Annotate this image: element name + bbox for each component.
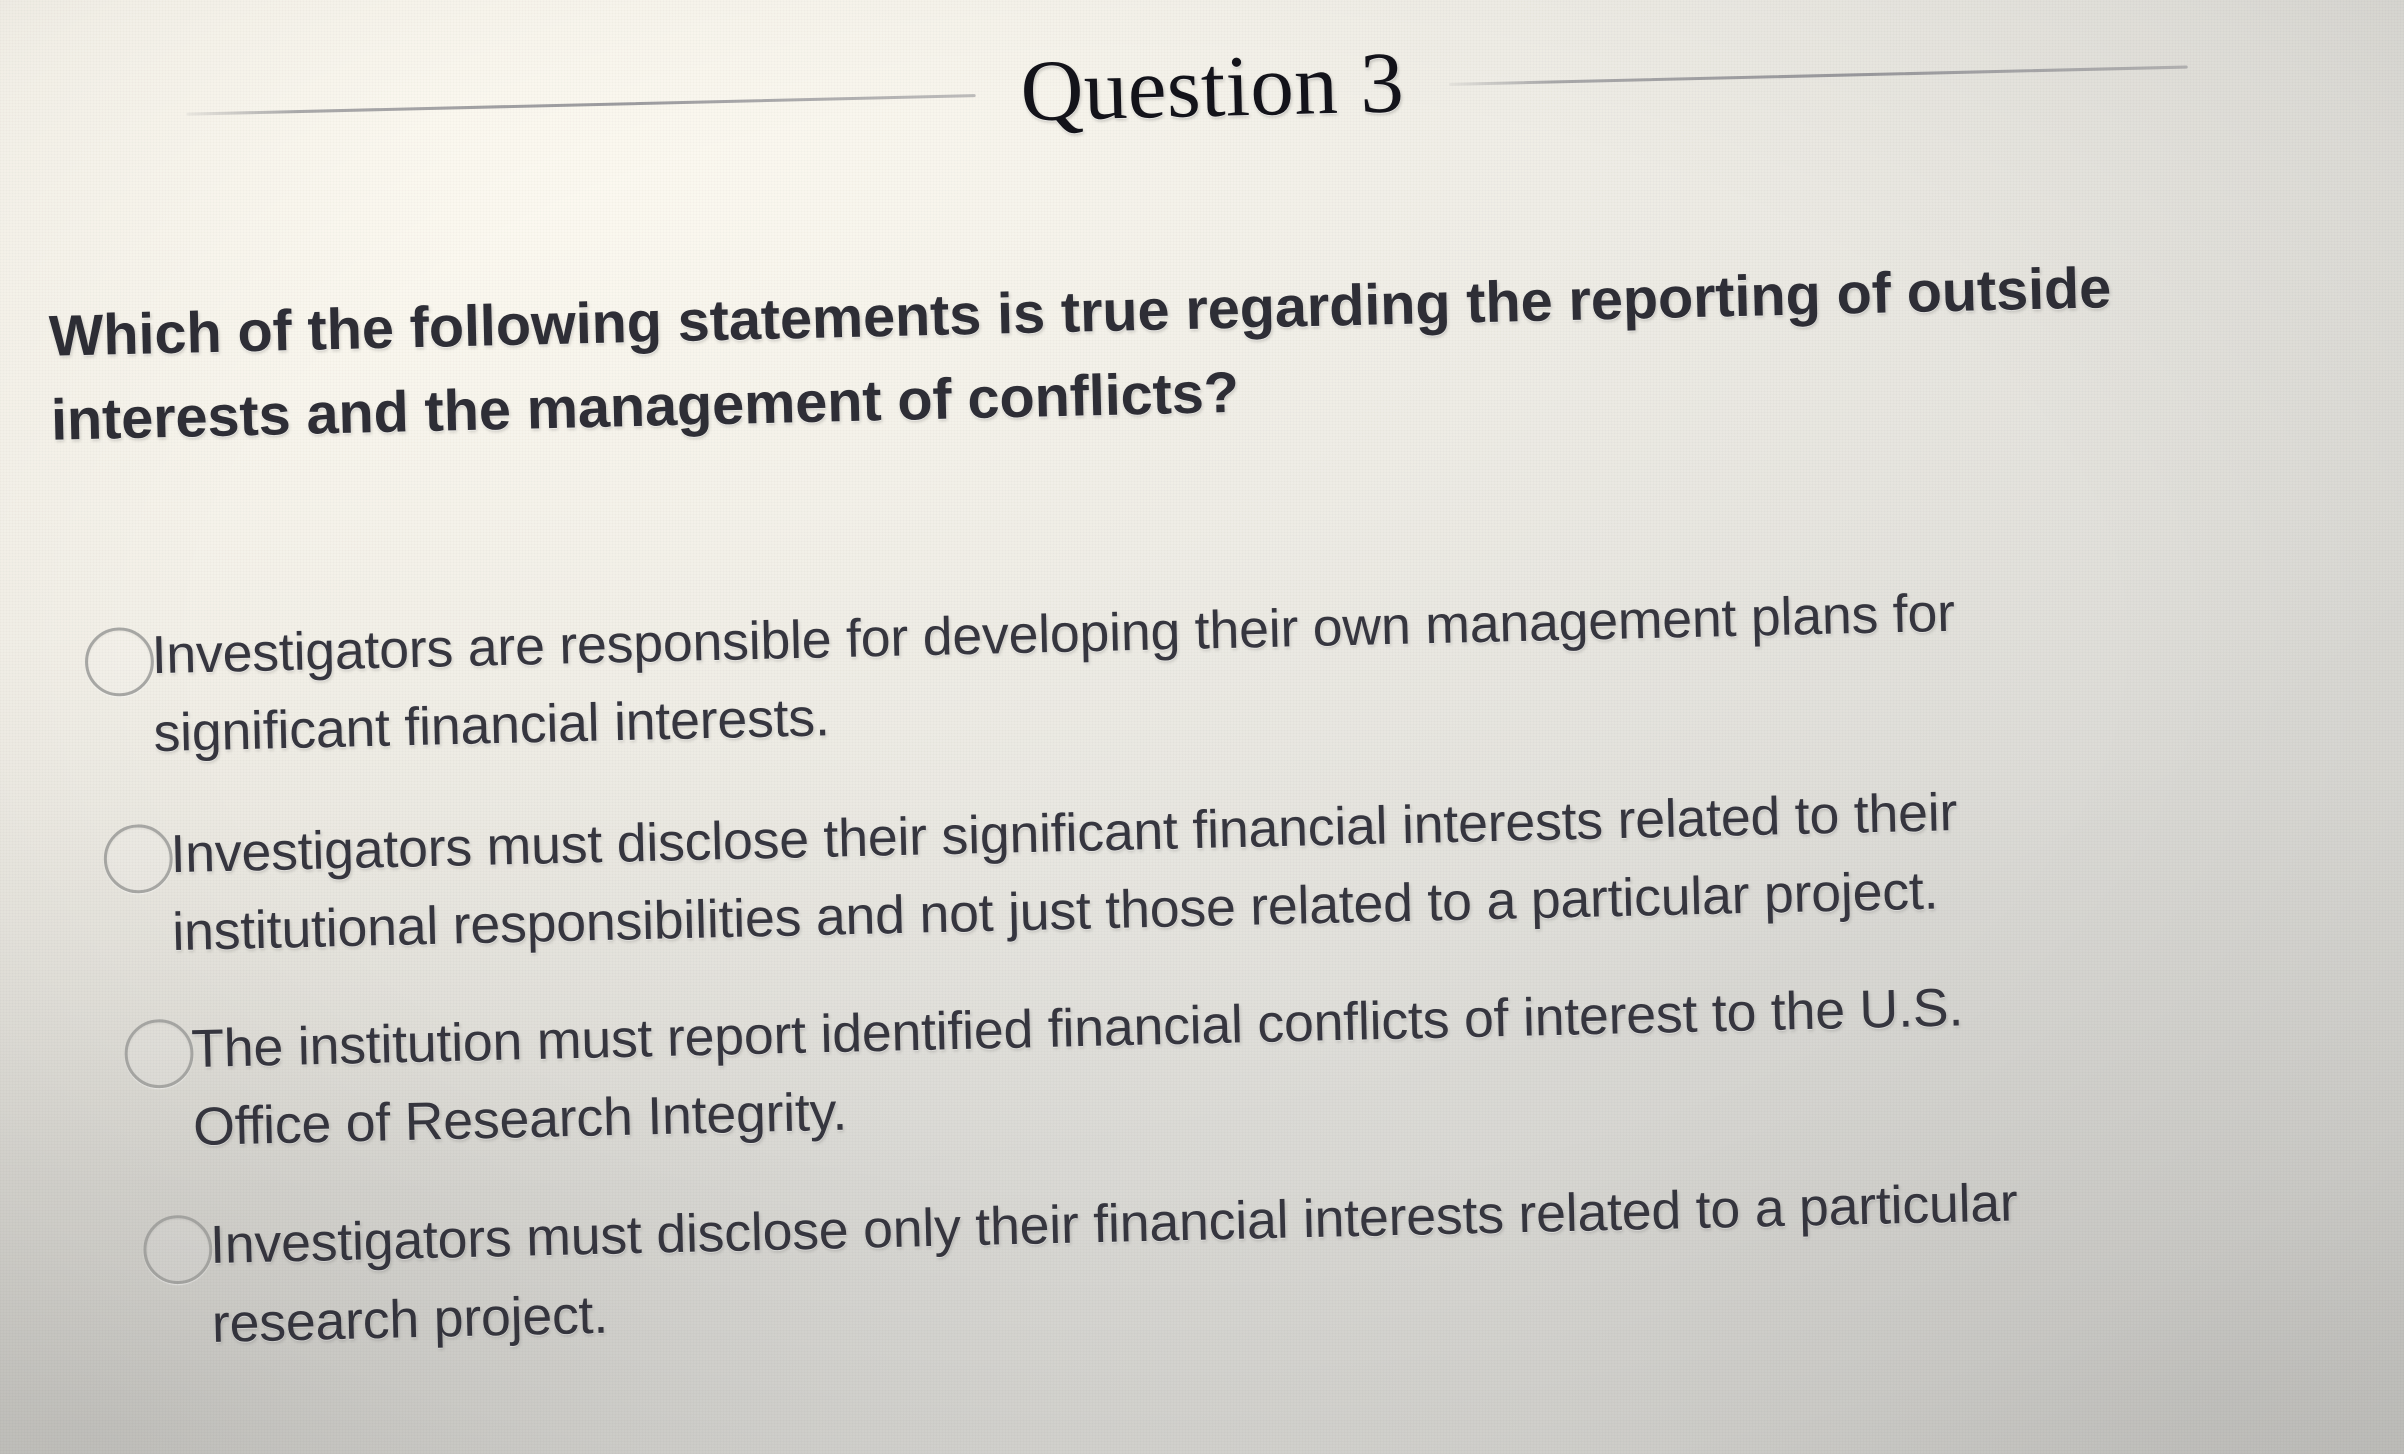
radio-button-icon-3[interactable] <box>124 1018 194 1088</box>
answer-option-label-3: The institution must report identified f… <box>190 965 2096 1166</box>
answer-options-list: Investigators are responsible for develo… <box>0 563 2404 1368</box>
header-divider-right-icon <box>1449 65 2188 85</box>
answer-option-3[interactable]: The institution must report identified f… <box>0 957 2404 1171</box>
answer-option-label-4: Investigators must disclose only their f… <box>209 1162 2125 1364</box>
question-header: Question 3 <box>0 1 2404 180</box>
radio-button-icon-4[interactable] <box>143 1215 213 1285</box>
question-prompt: Which of the following statements is tru… <box>48 246 2146 464</box>
quiz-page: Question 3 Which of the following statem… <box>0 0 2404 1454</box>
radio-button-icon-2[interactable] <box>103 823 173 893</box>
screen-photo: Question 3 Which of the following statem… <box>0 0 2404 1454</box>
radio-button-icon-1[interactable] <box>84 627 154 697</box>
answer-option-4[interactable]: Investigators must disclose only their f… <box>0 1154 2404 1368</box>
answer-option-label-2: Investigators must disclose their signif… <box>170 769 2157 972</box>
page-title: Question 3 <box>1020 38 1406 140</box>
answer-option-2[interactable]: Investigators must disclose their signif… <box>0 762 2404 976</box>
answer-option-1[interactable]: Investigators are responsible for develo… <box>0 563 2404 777</box>
answer-option-label-1: Investigators are responsible for develo… <box>151 571 2107 774</box>
header-divider-left-icon <box>187 94 976 116</box>
